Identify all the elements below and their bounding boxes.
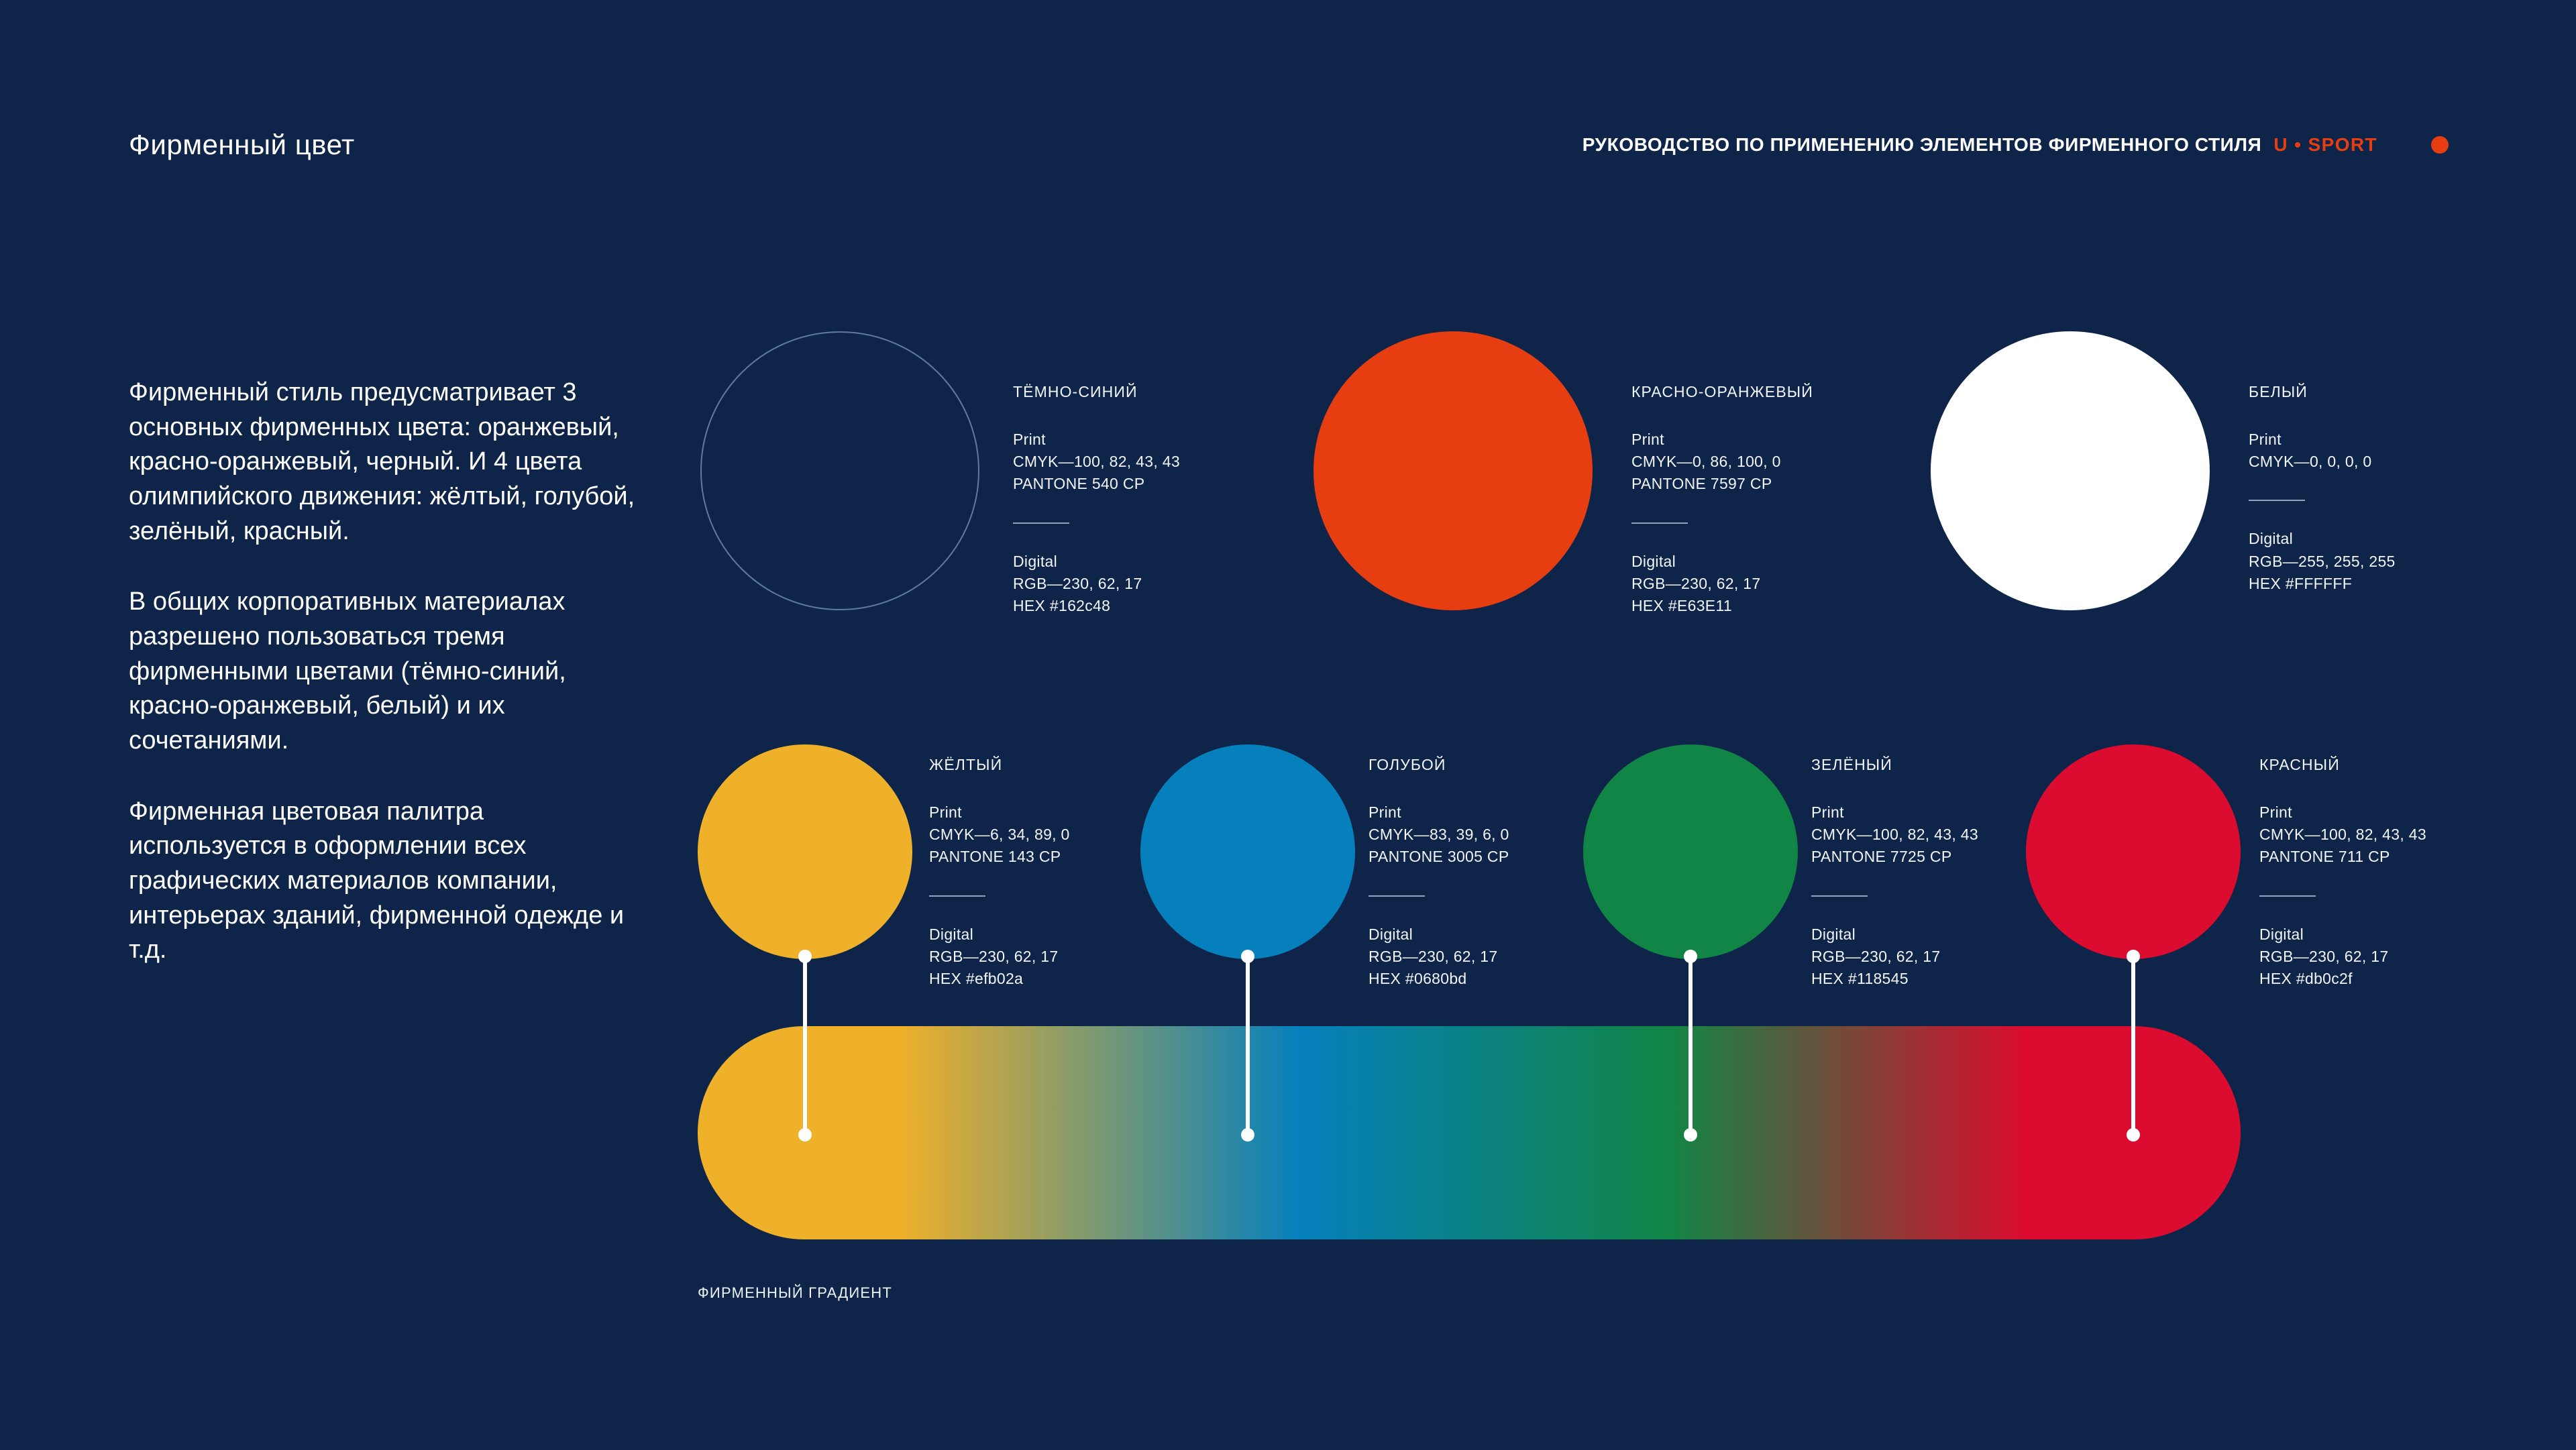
swatch-name: ЖЁЛТЫЙ	[929, 754, 1070, 776]
swatch-disc-green	[1583, 744, 1798, 959]
swatch-disc-red-orange	[1313, 331, 1593, 610]
cmyk-value: CMYK—100, 82, 43, 43	[1013, 451, 1180, 473]
connector-light-blue	[1246, 955, 1250, 1136]
pantone-value: PANTONE 540 CP	[1013, 473, 1180, 495]
connector-red	[2131, 955, 2135, 1136]
digital-label: Digital	[2259, 924, 2426, 946]
gradient-caption: ФИРМЕННЫЙ ГРАДИЕНТ	[698, 1284, 892, 1302]
swatch-disc-red	[2026, 744, 2241, 959]
print-label: Print	[2259, 801, 2426, 824]
pantone-value: PANTONE 711 CP	[2259, 846, 2426, 868]
print-label: Print	[929, 801, 1070, 824]
hex-value: HEX #efb02a	[929, 968, 1070, 990]
brand-dot-icon	[2431, 136, 2449, 154]
spec-divider	[1811, 895, 1868, 897]
swatch-disc-light-blue	[1140, 744, 1355, 959]
slide-canvas: Фирменный цвет РУКОВОДСТВО ПО ПРИМЕНЕНИЮ…	[0, 0, 2576, 1450]
print-label: Print	[1631, 429, 1813, 451]
spec-divider	[2259, 895, 2316, 897]
print-label: Print	[1368, 801, 1509, 824]
connector-green	[1688, 955, 1693, 1136]
rgb-value: RGB—230, 62, 17	[1811, 946, 1978, 968]
spec-divider	[2249, 500, 2305, 501]
header-right-group: РУКОВОДСТВО ПО ПРИМЕНЕНИЮ ЭЛЕМЕНТОВ ФИРМ…	[1582, 134, 2449, 156]
swatch-disc-white	[1931, 331, 2210, 610]
cmyk-value: CMYK—0, 86, 100, 0	[1631, 451, 1813, 473]
hex-value: HEX #0680bd	[1368, 968, 1509, 990]
pantone-value: PANTONE 143 CP	[929, 846, 1070, 868]
print-label: Print	[1013, 429, 1180, 451]
digital-label: Digital	[1631, 551, 1813, 573]
swatch-disc-yellow	[698, 744, 912, 959]
intro-paragraph-3: Фирменная цветовая палитра используется …	[129, 795, 639, 968]
swatch-name: КРАСНО-ОРАНЖЕВЫЙ	[1631, 381, 1813, 403]
spec-divider	[929, 895, 985, 897]
rgb-value: RGB—230, 62, 17	[2259, 946, 2426, 968]
guide-title: РУКОВОДСТВО ПО ПРИМЕНЕНИЮ ЭЛЕМЕНТОВ ФИРМ…	[1582, 134, 2262, 156]
swatch-name: ТЁМНО-СИНИЙ	[1013, 381, 1180, 403]
pantone-value: PANTONE 3005 CP	[1368, 846, 1509, 868]
digital-label: Digital	[929, 924, 1070, 946]
cmyk-value: CMYK—100, 82, 43, 43	[2259, 824, 2426, 846]
swatch-name: БЕЛЫЙ	[2249, 381, 2396, 403]
hex-value: HEX #db0c2f	[2259, 968, 2426, 990]
cmyk-value: CMYK—0, 0, 0, 0	[2249, 451, 2396, 473]
spec-divider	[1631, 522, 1688, 524]
print-label: Print	[2249, 429, 2396, 451]
swatch-spec-yellow: ЖЁЛТЫЙ Print CMYK—6, 34, 89, 0 PANTONE 1…	[929, 754, 1070, 991]
digital-label: Digital	[2249, 528, 2396, 550]
digital-label: Digital	[1811, 924, 1978, 946]
rgb-value: RGB—230, 62, 17	[929, 946, 1070, 968]
pantone-value: PANTONE 7725 CP	[1811, 846, 1978, 868]
rgb-value: RGB—230, 62, 17	[1631, 573, 1813, 595]
rgb-value: RGB—230, 62, 17	[1368, 946, 1509, 968]
rgb-value: RGB—255, 255, 255	[2249, 551, 2396, 573]
cmyk-value: CMYK—83, 39, 6, 0	[1368, 824, 1509, 846]
swatch-spec-green: ЗЕЛЁНЫЙ Print CMYK—100, 82, 43, 43 PANTO…	[1811, 754, 1978, 991]
spec-divider	[1013, 522, 1069, 524]
swatch-name: ЗЕЛЁНЫЙ	[1811, 754, 1978, 776]
swatch-spec-dark-blue: ТЁМНО-СИНИЙ Print CMYK—100, 82, 43, 43 P…	[1013, 381, 1180, 618]
hex-value: HEX #162c48	[1013, 595, 1180, 617]
spec-divider	[1368, 895, 1425, 897]
hex-value: HEX #FFFFFF	[2249, 573, 2396, 595]
intro-paragraph-1: Фирменный стиль предусматривает 3 основн…	[129, 376, 639, 549]
hex-value: HEX #118545	[1811, 968, 1978, 990]
swatch-name: ГОЛУБОЙ	[1368, 754, 1509, 776]
cmyk-value: CMYK—6, 34, 89, 0	[929, 824, 1070, 846]
digital-label: Digital	[1368, 924, 1509, 946]
cmyk-value: CMYK—100, 82, 43, 43	[1811, 824, 1978, 846]
rgb-value: RGB—230, 62, 17	[1013, 573, 1180, 595]
swatch-name: КРАСНЫЙ	[2259, 754, 2426, 776]
print-label: Print	[1811, 801, 1978, 824]
intro-paragraph-2: В общих корпоративных материалах разреше…	[129, 585, 639, 758]
digital-label: Digital	[1013, 551, 1180, 573]
swatch-spec-light-blue: ГОЛУБОЙ Print CMYK—83, 39, 6, 0 PANTONE …	[1368, 754, 1509, 991]
swatch-disc-dark-blue	[700, 331, 979, 610]
brand-logotype: U • SPORT	[2273, 134, 2377, 156]
swatch-spec-white: БЕЛЫЙ Print CMYK—0, 0, 0, 0 Digital RGB—…	[2249, 381, 2396, 595]
intro-copy: Фирменный стиль предусматривает 3 основн…	[129, 376, 639, 968]
swatch-spec-red: КРАСНЫЙ Print CMYK—100, 82, 43, 43 PANTO…	[2259, 754, 2426, 991]
swatch-spec-red-orange: КРАСНО-ОРАНЖЕВЫЙ Print CMYK—0, 86, 100, …	[1631, 381, 1813, 618]
hex-value: HEX #E63E11	[1631, 595, 1813, 617]
page-title: Фирменный цвет	[129, 129, 355, 161]
pantone-value: PANTONE 7597 CP	[1631, 473, 1813, 495]
connector-yellow	[803, 955, 807, 1136]
brand-gradient-bar	[698, 1026, 2241, 1239]
